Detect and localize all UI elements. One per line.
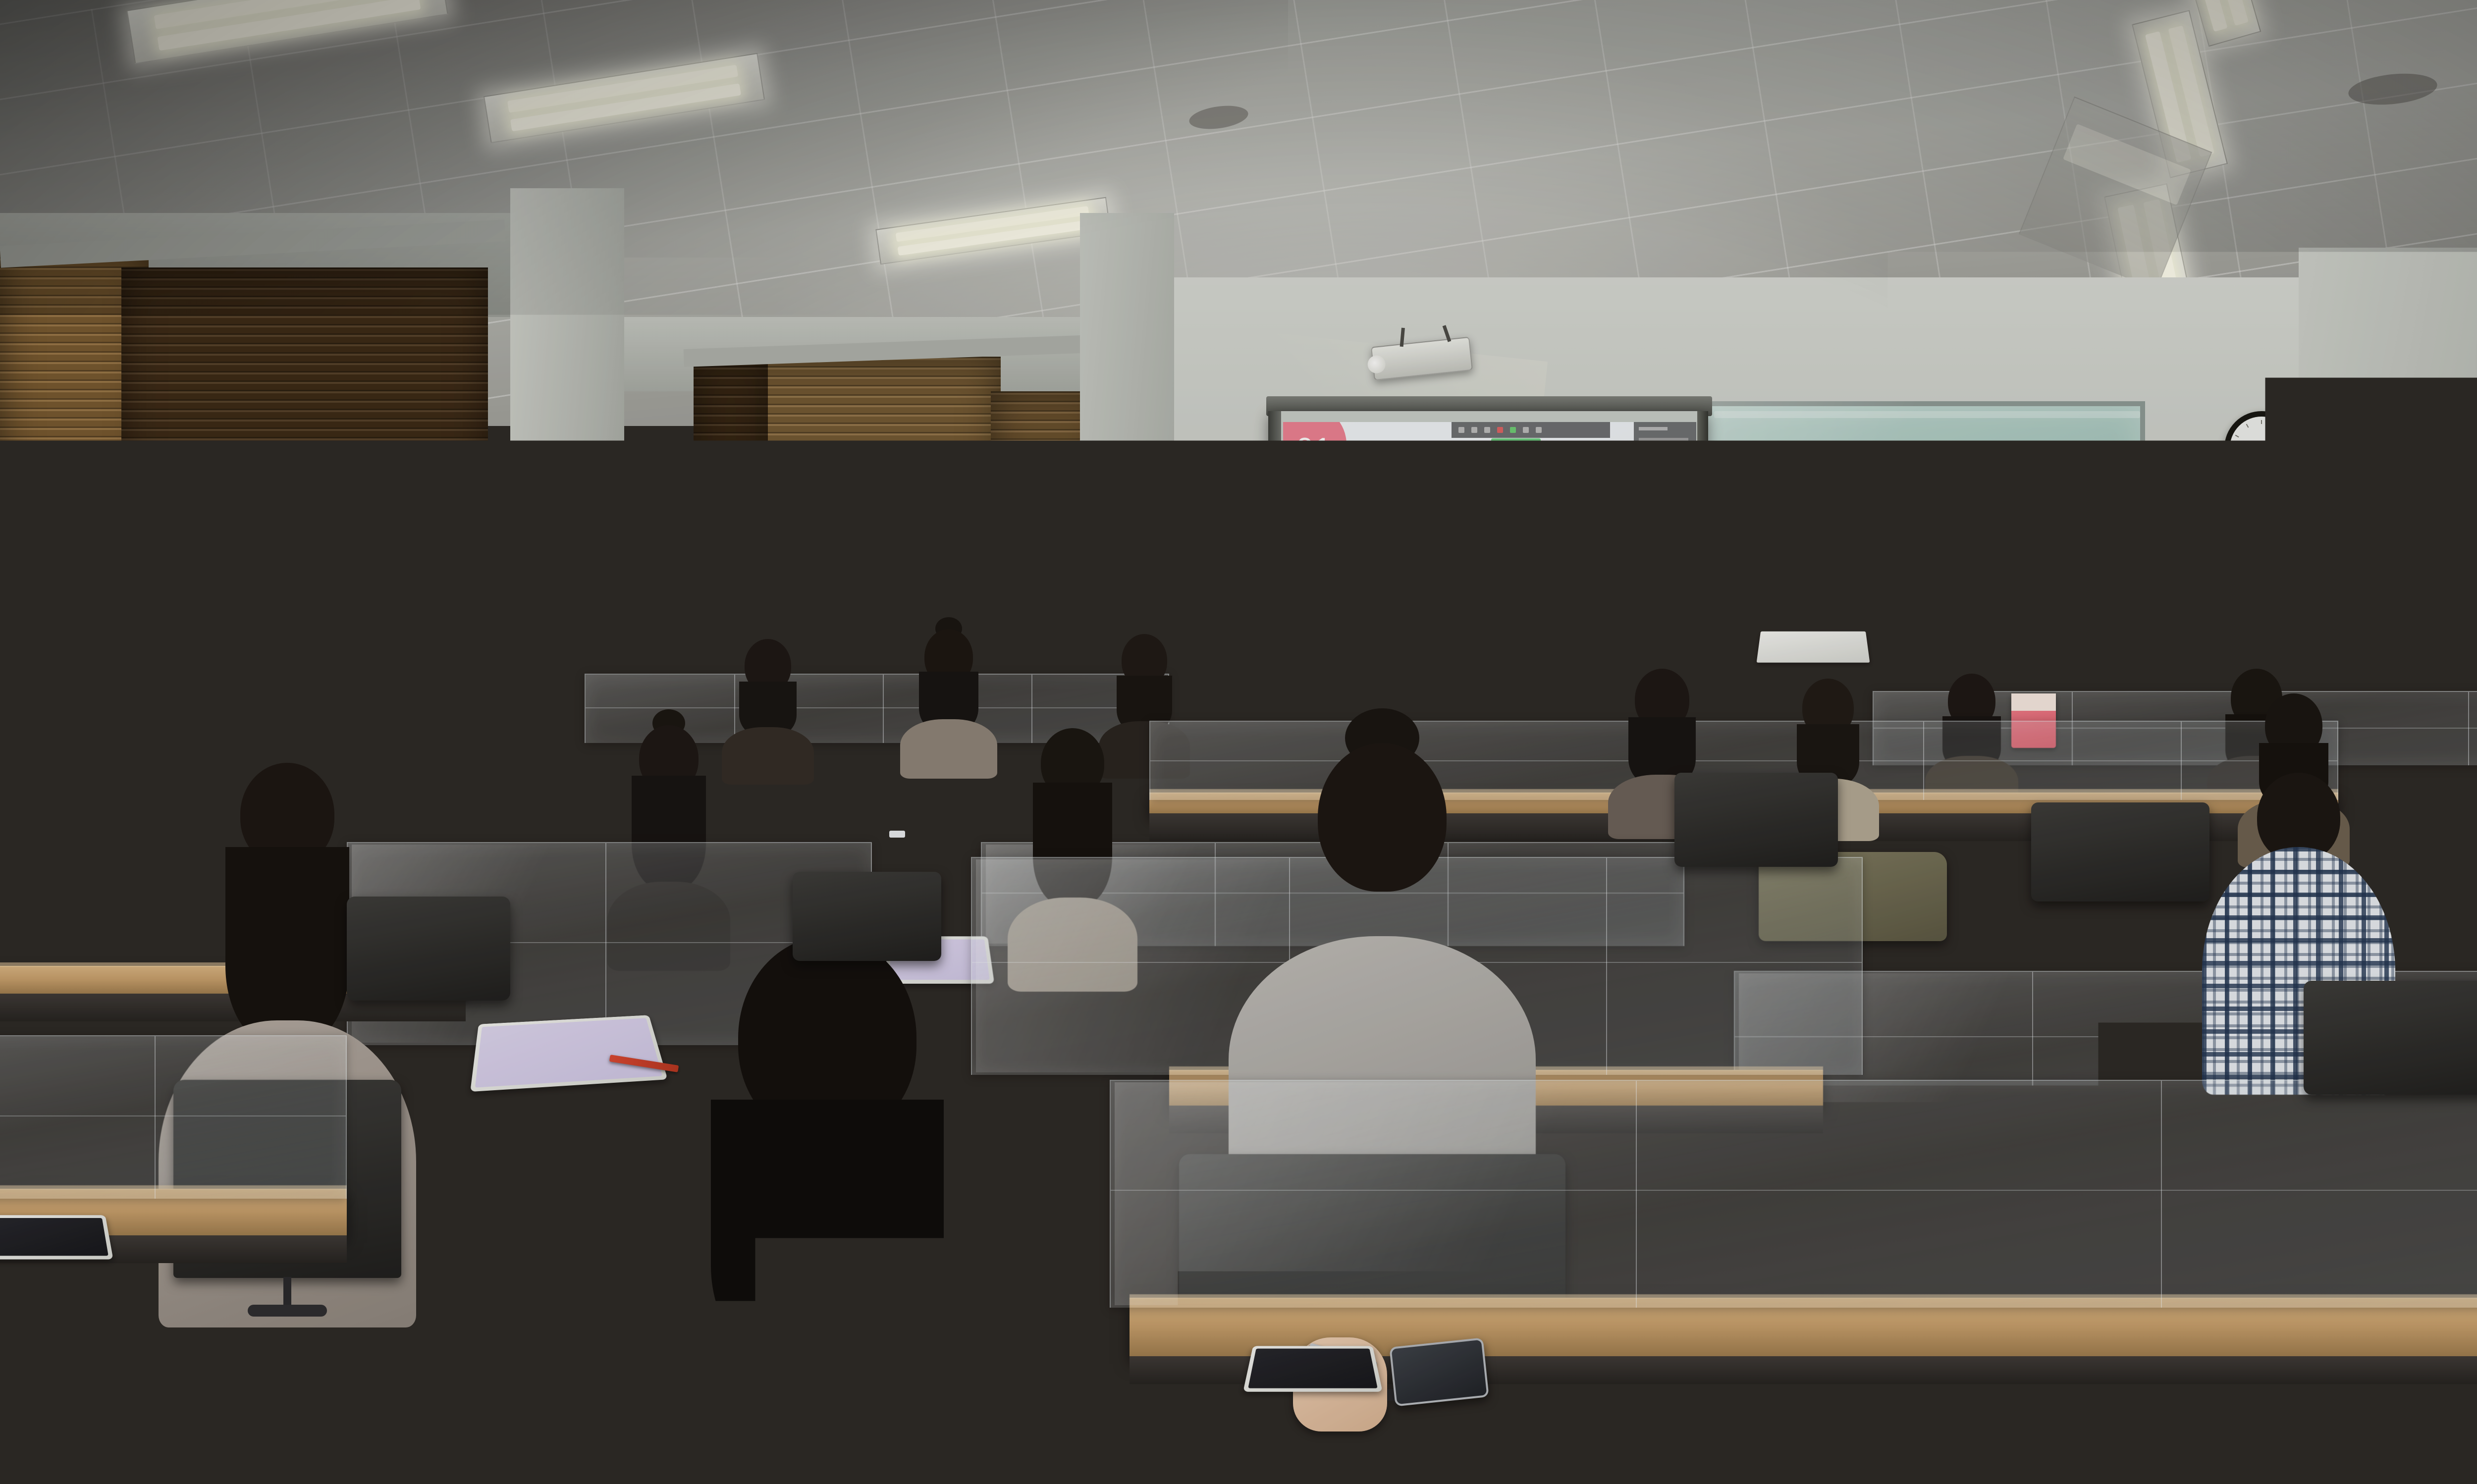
clock-center-pin [2260, 446, 2264, 451]
chair [347, 897, 510, 1001]
rna-sublabel: Single stranded [1452, 643, 1496, 647]
classroom-photo: 01 중심원리 (Central Dogma) DIFFERENCE BETWE… [0, 0, 2477, 1484]
slide-badge-number: 01 [1283, 431, 1332, 483]
clock-minute-hand [2243, 448, 2262, 470]
acrylic-divider [0, 1035, 347, 1199]
slide-banner: DIFFERENCE BETWEEN DNA AND RNA [1450, 494, 1596, 513]
dna-double-helix [1538, 519, 1569, 638]
slide-section-badge: 01 [1283, 422, 1346, 483]
rna-single-strand [1464, 520, 1496, 639]
student [728, 639, 808, 763]
presenter-face-mask [1885, 570, 1912, 590]
window-blinds [121, 267, 488, 619]
dna-rna-illustration: CYTOSINE GUANINE ADENINE URACIL CYTOSINE [1441, 516, 1629, 646]
tablet-dark [0, 1215, 113, 1259]
screen-left-edge [1268, 411, 1281, 718]
smartphone [1389, 1337, 1489, 1406]
window-sill [0, 589, 505, 614]
screenshare-toolbar [1452, 422, 1610, 438]
window-sill [679, 614, 1115, 634]
slide-banner-text: DIFFERENCE BETWEEN DNA AND RNA [1429, 498, 1616, 509]
tablet-dark [1243, 1346, 1383, 1391]
rna-label: RNA [1452, 637, 1496, 643]
slide-title: 중심원리 (Central Dogma) [1357, 442, 1696, 486]
slide-caption-2: RNA DNA가 가지고 있는 유전정보에 따라 필요한 단백질을 합성할 때 … [1333, 674, 1660, 688]
acrylic-divider [1110, 1080, 2477, 1308]
slide-banner-logo: PIKTO [1604, 496, 1629, 505]
projected-slide: 01 중심원리 (Central Dogma) DIFFERENCE BETWE… [1283, 422, 1696, 704]
laptop-on-lectern [1757, 632, 1870, 663]
student [907, 624, 991, 753]
chair [793, 872, 941, 961]
presenter-fringe [1878, 546, 1918, 565]
chalkboard-rail [1714, 411, 2140, 418]
chair [1674, 773, 1838, 867]
dna-label: DNA [1525, 637, 1569, 643]
chair [2031, 802, 2209, 901]
chair [2304, 981, 2477, 1095]
student [654, 936, 1001, 1484]
wall-clock [2224, 411, 2299, 485]
window-blinds [694, 357, 768, 624]
slide-caption-1: DNA 염기화학 유전 정보를 담은 화학물질 (핵산) [1333, 656, 1531, 670]
chromosome-illustration [1321, 515, 1390, 639]
tablet-white-case [470, 1015, 668, 1092]
helix-note-bottom: Sugar Phosphate backbone [1500, 590, 1545, 603]
dna-sublabel: Double stranded helix [1525, 643, 1569, 647]
helix-note-top: Nitrogenous base [1526, 530, 1538, 565]
